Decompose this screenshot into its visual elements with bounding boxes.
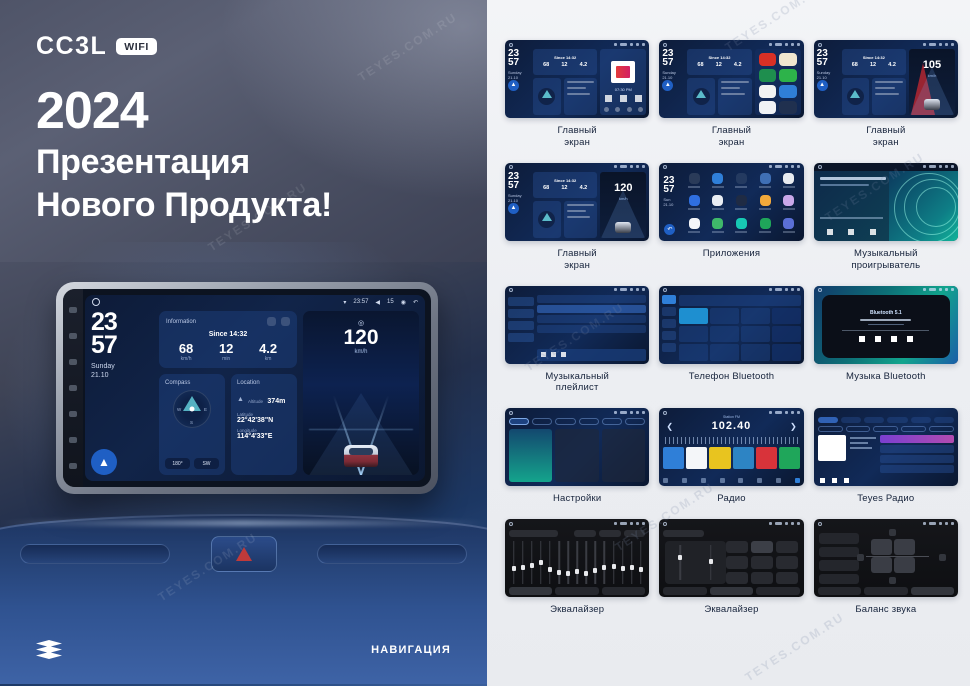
mini-information-card[interactable]: Since 14:32 68124.2 xyxy=(533,49,597,75)
wifi-icon: ▾ xyxy=(343,299,346,306)
navigate-icon[interactable]: ▲ xyxy=(817,80,828,91)
list-icon[interactable] xyxy=(627,107,632,112)
thumbnail-bluetooth-phone[interactable] xyxy=(659,286,803,364)
tab-display[interactable] xyxy=(555,418,575,425)
caption-line1: Эквалайзер xyxy=(704,604,758,615)
card-more[interactable] xyxy=(602,429,645,482)
next-icon[interactable] xyxy=(870,229,876,235)
bass-slider[interactable] xyxy=(676,545,684,579)
filter-favorites[interactable] xyxy=(901,426,926,432)
grid-item[interactable]: Музыкальный плейлист xyxy=(505,286,649,395)
mini-compass-card[interactable] xyxy=(842,78,870,115)
call-log-icon[interactable] xyxy=(662,331,676,340)
preset-pop[interactable] xyxy=(776,541,798,553)
band-slider[interactable] xyxy=(628,541,635,584)
grid-item[interactable]: 2357Sunday21.10 ▲ Since 14:32 68124.2 xyxy=(505,163,649,272)
sidebar-item-folders[interactable] xyxy=(508,333,534,342)
teyes-radio-tabs[interactable] xyxy=(818,417,954,423)
station-list[interactable] xyxy=(880,435,954,482)
logo-text: CC3L xyxy=(36,32,107,61)
radio-toolbar[interactable] xyxy=(663,478,799,483)
thumbnail-home-music[interactable]: 2357Sunday21.10 ▲ Since 14:32 68124.2 xyxy=(505,40,649,118)
play-store-icon[interactable] xyxy=(759,101,777,114)
load-button[interactable] xyxy=(624,530,646,537)
bluetooth-icon[interactable] xyxy=(662,307,676,316)
prev-icon[interactable] xyxy=(820,478,825,483)
band-slider[interactable] xyxy=(592,541,599,584)
backspace-icon[interactable] xyxy=(772,326,801,342)
photos-icon[interactable] xyxy=(759,85,777,98)
preset-custom[interactable] xyxy=(776,572,798,584)
stat-item: 12 min xyxy=(219,341,233,362)
list-item[interactable] xyxy=(537,305,646,313)
eq-icon[interactable] xyxy=(638,107,643,112)
player-controls[interactable] xyxy=(820,478,849,483)
grid-item[interactable]: 2357Sunday21.10 ▲ Since 14:32 68124.2 xyxy=(505,40,649,149)
player-controls[interactable] xyxy=(600,95,646,102)
compass-card[interactable]: Compass W E S 180° SW xyxy=(159,374,225,475)
playlist-list[interactable] xyxy=(537,295,646,361)
car-3d-model xyxy=(615,222,631,233)
tab-presets[interactable] xyxy=(864,587,907,595)
reset-button[interactable] xyxy=(574,530,596,537)
information-card-actions[interactable] xyxy=(267,317,290,326)
tab-radio[interactable] xyxy=(818,417,838,423)
search-icon[interactable] xyxy=(682,478,687,483)
back-icon[interactable]: ↶ xyxy=(413,299,418,306)
key-2[interactable] xyxy=(710,308,739,324)
tab-regions[interactable] xyxy=(911,417,931,423)
mini-clock: 2357Sun21.10 xyxy=(663,176,685,207)
car-body xyxy=(344,445,378,467)
progress-bar[interactable] xyxy=(842,330,929,331)
pause-icon[interactable] xyxy=(551,352,556,357)
preset-standard[interactable] xyxy=(726,541,748,553)
gallery-icon[interactable] xyxy=(779,85,797,98)
dialpad-icon[interactable] xyxy=(662,295,676,304)
location-altitude: ▲ Altitude 374m xyxy=(237,390,291,408)
contacts-icon xyxy=(712,195,723,206)
repeat-icon[interactable] xyxy=(615,107,620,112)
mini-statusbar xyxy=(505,163,649,171)
sidebar-item-tracks[interactable] xyxy=(508,297,534,306)
app-google[interactable] xyxy=(683,218,705,238)
settings-icon[interactable] xyxy=(779,101,797,114)
tab-driving[interactable] xyxy=(602,418,622,425)
side-key-back-icon[interactable] xyxy=(69,411,77,417)
band-slider[interactable] xyxy=(510,541,517,584)
tab-eq[interactable] xyxy=(663,587,706,595)
list-item[interactable] xyxy=(537,315,646,323)
key-7[interactable] xyxy=(679,344,708,360)
speaker-front-left[interactable] xyxy=(871,539,892,555)
stereo-icon[interactable] xyxy=(720,478,725,483)
app-camera[interactable] xyxy=(778,173,800,193)
tab-more[interactable] xyxy=(602,587,645,595)
browser-icon[interactable] xyxy=(779,53,797,66)
preset-dance[interactable] xyxy=(751,572,773,584)
sidebar-item-all[interactable] xyxy=(508,309,534,318)
tab-wlan[interactable] xyxy=(509,418,529,425)
preset-custom[interactable] xyxy=(819,574,859,585)
prev-icon[interactable] xyxy=(605,95,612,102)
radio-presets[interactable] xyxy=(663,447,799,469)
mini-music-widget[interactable]: 07:30 PM xyxy=(600,49,646,115)
band-slider[interactable] xyxy=(610,541,617,584)
settings-cards[interactable] xyxy=(509,429,645,482)
tab-eq[interactable] xyxy=(509,587,552,595)
app-bluetooth[interactable] xyxy=(707,173,729,193)
hazard-triangle-icon xyxy=(236,547,252,561)
compass-readouts: 180° SW xyxy=(165,458,219,469)
thumbnail-teyes-radio[interactable] xyxy=(814,408,958,486)
preset-buttons[interactable] xyxy=(726,541,798,584)
mini-location-card[interactable] xyxy=(718,78,752,115)
band-slider[interactable] xyxy=(519,541,526,584)
thumbnail-equalizer-presets[interactable] xyxy=(659,519,803,597)
app-music-player[interactable] xyxy=(731,218,753,238)
preset-2[interactable] xyxy=(686,447,707,469)
tab-general[interactable] xyxy=(579,418,599,425)
preset-6[interactable] xyxy=(779,447,800,469)
grid-item[interactable]: Bluetooth 5.1 Музыка Bluetooth xyxy=(814,286,958,395)
latitude-value: 22°42'38"N xyxy=(237,417,291,424)
preset-rock[interactable] xyxy=(726,556,748,568)
key-9[interactable] xyxy=(741,344,770,360)
band-slider[interactable] xyxy=(528,541,535,584)
prev-icon[interactable] xyxy=(541,352,546,357)
tab-eq[interactable] xyxy=(818,587,861,595)
band-slider[interactable] xyxy=(537,541,544,584)
head-unit-screen[interactable]: ▾ 23:57 ◀ 15 ◉ ↶ 23 57 Sunday xyxy=(85,295,425,481)
list-icon[interactable] xyxy=(701,478,706,483)
grid-item[interactable]: 2357Sun21.10 xyxy=(659,163,803,272)
grid-item[interactable]: Настройки xyxy=(505,408,649,505)
grid-item-caption: Музыкальный плейлист xyxy=(545,371,609,395)
location-latitude: Latitude 22°42'38"N xyxy=(237,412,291,424)
filter-rock[interactable] xyxy=(873,426,898,432)
mini-statusbar xyxy=(659,40,803,48)
progress-bar[interactable] xyxy=(820,217,884,219)
hero-footer-label: НАВИГАЦИЯ xyxy=(371,644,451,656)
tab-balance[interactable] xyxy=(911,587,954,595)
preset-name[interactable] xyxy=(663,530,704,537)
preset-vocal[interactable] xyxy=(776,556,798,568)
tab-genres[interactable] xyxy=(887,417,907,423)
hazard-light-button[interactable] xyxy=(211,536,277,572)
speaker-front-right[interactable] xyxy=(894,539,915,555)
app-wifi[interactable] xyxy=(683,173,705,193)
settings-icon[interactable] xyxy=(267,317,276,326)
grid-item[interactable]: Station FM ❮ 102.40 ❯ xyxy=(659,408,803,505)
teyes-radio-main xyxy=(818,435,954,482)
preset-jazz[interactable] xyxy=(751,556,773,568)
side-key-power-icon[interactable] xyxy=(69,359,77,365)
loc-icon[interactable] xyxy=(738,478,743,483)
app-maps[interactable] xyxy=(707,218,729,238)
navigate-icon[interactable]: ▲ xyxy=(91,449,117,475)
navigate-icon[interactable]: ▲ xyxy=(508,203,519,214)
mini-since: Since 14:32 xyxy=(846,55,902,60)
equalizer-icon xyxy=(736,195,747,206)
equalizer-tabs[interactable] xyxy=(509,587,645,595)
grid-item[interactable]: Музыкальный проигрыватель xyxy=(814,163,958,272)
side-key-volume-down-icon[interactable] xyxy=(69,437,77,443)
mini-statusbar xyxy=(505,519,649,527)
thumbnail-home-apps[interactable]: 2357Sunday21.10 ▲ Since 14:32 68124.2 xyxy=(659,40,803,118)
mini-compass-card[interactable] xyxy=(533,78,561,115)
key-6[interactable] xyxy=(741,326,770,342)
call-icon[interactable] xyxy=(772,344,801,360)
equalizer-header[interactable] xyxy=(509,529,645,537)
thumbnail-home-nav[interactable]: 2357Sunday21.10 ▲ Since 14:32 68124.2 xyxy=(505,163,649,241)
bass-treble-sliders[interactable] xyxy=(665,541,726,584)
pause-icon[interactable] xyxy=(620,95,627,102)
band-slider[interactable] xyxy=(546,541,553,584)
thumbnail-music-player[interactable] xyxy=(814,163,958,241)
grid-item[interactable]: Teyes Радио xyxy=(814,408,958,505)
arrow-left-icon[interactable] xyxy=(857,554,864,561)
hero-heading: 2024 Презентация Нового Продукта! xyxy=(36,84,332,226)
youtube-icon[interactable] xyxy=(759,53,777,66)
pause-icon[interactable] xyxy=(848,229,854,235)
grid-item[interactable]: Эквалайзер xyxy=(659,519,803,616)
next-icon[interactable] xyxy=(561,352,566,357)
list-item[interactable] xyxy=(880,445,954,453)
band-slider[interactable] xyxy=(619,541,626,584)
thumbnail-bluetooth-music[interactable]: Bluetooth 5.1 xyxy=(814,286,958,364)
preset-front[interactable] xyxy=(819,533,859,544)
mini-information-card[interactable]: Since 14:32 68124.2 xyxy=(533,172,597,198)
key-8[interactable] xyxy=(710,344,739,360)
road-illustration xyxy=(303,383,419,475)
key-4[interactable] xyxy=(679,326,708,342)
side-key-mute-icon[interactable] xyxy=(69,307,77,313)
mini-statusbar xyxy=(505,40,649,48)
app-shortcut-grid[interactable] xyxy=(758,52,798,112)
tab-sound[interactable] xyxy=(532,418,552,425)
settings-tabs[interactable] xyxy=(509,418,645,425)
caption-line2: проигрыватель xyxy=(851,260,920,271)
af-icon[interactable] xyxy=(757,478,762,483)
equalizer-tabs[interactable] xyxy=(818,587,954,595)
now-playing-bar[interactable] xyxy=(537,349,646,361)
arrow-right-icon[interactable] xyxy=(939,554,946,561)
shuffle-icon[interactable] xyxy=(604,107,609,112)
mini-compass-card[interactable] xyxy=(533,201,561,238)
band-slider[interactable] xyxy=(583,541,590,584)
player-controls[interactable] xyxy=(859,336,913,342)
band-slider[interactable] xyxy=(637,541,644,584)
frequency-dial[interactable] xyxy=(665,437,797,444)
tab-music[interactable] xyxy=(864,417,884,423)
list-item[interactable] xyxy=(880,455,954,463)
speaker-rear-right[interactable] xyxy=(894,557,915,573)
preset-3[interactable] xyxy=(709,447,730,469)
thumbnail-music-playlist[interactable] xyxy=(505,286,649,364)
save-button[interactable] xyxy=(599,530,621,537)
band-slider[interactable] xyxy=(601,541,608,584)
favourite-icon[interactable] xyxy=(772,308,801,324)
preset-5[interactable] xyxy=(756,447,777,469)
app-contacts[interactable] xyxy=(707,195,729,215)
speed-hud-panel[interactable]: ◎ 120 km/h xyxy=(303,311,419,475)
mini-information-card[interactable]: Since 14:32 68124.2 xyxy=(687,49,751,75)
play-pause-icon[interactable] xyxy=(875,336,881,342)
app-file-manager[interactable] xyxy=(754,195,776,215)
tab-system[interactable] xyxy=(625,418,645,425)
app-dsp-equalizer[interactable] xyxy=(731,195,753,215)
preset-bass[interactable] xyxy=(726,572,748,584)
tab-more[interactable] xyxy=(756,587,799,595)
tab-presets[interactable] xyxy=(710,587,753,595)
close-icon[interactable] xyxy=(934,417,954,423)
thumbnail-equalizer-bands[interactable] xyxy=(505,519,649,597)
back-icon[interactable]: ↶ xyxy=(664,224,675,235)
stop-icon[interactable] xyxy=(891,336,897,342)
side-key-volume-up-icon[interactable] xyxy=(69,463,77,469)
mini-app-shortcuts[interactable] xyxy=(755,49,801,115)
preset-1[interactable] xyxy=(663,447,684,469)
spotify-icon[interactable] xyxy=(779,69,797,82)
equalizer-header[interactable] xyxy=(663,529,799,537)
chrome-icon xyxy=(689,195,700,206)
speaker-rear-left[interactable] xyxy=(871,557,892,573)
sidebar-item-favourites[interactable] xyxy=(508,321,534,330)
card-wlan[interactable] xyxy=(509,429,552,482)
preset-4[interactable] xyxy=(733,447,754,469)
preset-name[interactable] xyxy=(509,530,558,537)
dialpad-keys[interactable] xyxy=(679,308,800,361)
grid-item[interactable]: 2357Sunday21.10 ▲ Since 14:32 68124.2 xyxy=(814,40,958,149)
app-gallery[interactable] xyxy=(778,195,800,215)
balance-presets[interactable] xyxy=(819,533,859,584)
thumbnail-home-road[interactable]: 2357Sunday21.10 ▲ Since 14:32 68124.2 xyxy=(814,40,958,118)
thumbnail-sound-balance[interactable] xyxy=(814,519,958,597)
tab-podcast[interactable] xyxy=(841,417,861,423)
information-card[interactable]: Information Since 14:32 xyxy=(159,311,297,368)
thumbnail-settings[interactable] xyxy=(505,408,649,486)
mini-information-card[interactable]: Since 14:32 68124.2 xyxy=(842,49,906,75)
phone-sidebar[interactable] xyxy=(662,295,676,361)
grid-item[interactable]: Баланс звука xyxy=(814,519,958,616)
key-3[interactable] xyxy=(741,308,770,324)
arrow-down-icon[interactable] xyxy=(889,577,896,584)
list-item[interactable] xyxy=(537,295,646,303)
band-icon[interactable] xyxy=(663,478,668,483)
next-icon[interactable] xyxy=(907,336,913,342)
radio-icon xyxy=(783,218,794,229)
mini-location-card[interactable] xyxy=(872,78,906,115)
next-icon[interactable] xyxy=(844,478,849,483)
key-1[interactable] xyxy=(679,308,708,324)
side-key-menu-icon[interactable] xyxy=(69,333,77,339)
preset-classic[interactable] xyxy=(751,541,773,553)
navigate-icon[interactable]: ▲ xyxy=(508,80,519,91)
treble-slider[interactable] xyxy=(707,545,715,579)
key-5[interactable] xyxy=(710,326,739,342)
next-station-icon[interactable]: ❯ xyxy=(790,422,797,431)
location-card[interactable]: Location ▲ Altitude 374m xyxy=(231,374,297,475)
refresh-icon[interactable] xyxy=(281,317,290,326)
settings-icon[interactable] xyxy=(662,343,676,352)
preset-rear[interactable] xyxy=(819,547,859,558)
app-play-store[interactable] xyxy=(754,218,776,238)
band-slider[interactable] xyxy=(574,541,581,584)
stop-icon[interactable] xyxy=(832,478,837,483)
list-item[interactable] xyxy=(880,435,954,443)
mini-compass-card[interactable] xyxy=(687,78,715,115)
search-icon[interactable] xyxy=(662,319,676,328)
head-unit-side-keys[interactable] xyxy=(63,289,83,487)
head-unit-home-body: 23 57 Sunday 21.10 ▲ Information xyxy=(91,311,419,475)
list-item[interactable] xyxy=(880,465,954,473)
grid-item[interactable]: Телефон Bluetooth xyxy=(659,286,803,395)
mini-since: Since 14:32 xyxy=(691,55,747,60)
thumbnail-apps[interactable]: 2357Sun21.10 xyxy=(659,163,803,241)
gps-icon: ◉ xyxy=(401,299,406,306)
compass-dial-icon: W E S xyxy=(173,390,211,428)
grid-item[interactable]: 2357Sunday21.10 ▲ Since 14:32 68124.2 xyxy=(659,40,803,149)
player-extra-controls[interactable] xyxy=(600,107,646,112)
filter-pop[interactable] xyxy=(846,426,871,432)
play-store-icon xyxy=(760,218,771,229)
next-icon[interactable] xyxy=(635,95,642,102)
thumbnail-radio[interactable]: Station FM ❮ 102.40 ❯ xyxy=(659,408,803,486)
app-radio[interactable] xyxy=(778,218,800,238)
tab-balance[interactable] xyxy=(555,587,598,595)
mini-speed-hud[interactable]: 105 km/h xyxy=(909,49,955,115)
layers-icon xyxy=(36,640,62,660)
mini-stats: 68124.2 xyxy=(537,62,593,68)
mini-location-card[interactable] xyxy=(564,201,598,238)
caption-line1: Музыкальный xyxy=(854,248,918,259)
arrow-up-icon[interactable] xyxy=(889,529,896,536)
filter-recent[interactable] xyxy=(929,426,954,432)
prev-icon[interactable] xyxy=(859,336,865,342)
speaker-balance-pad[interactable] xyxy=(871,539,914,573)
side-key-home-icon[interactable] xyxy=(69,385,77,391)
prev-icon[interactable] xyxy=(827,229,833,235)
app-chrome[interactable] xyxy=(683,195,705,215)
playlist-sidebar[interactable] xyxy=(508,295,534,361)
mini-home-body: 2357Sunday21.10 ▲ Since 14:32 68124.2 xyxy=(817,49,955,115)
maps-icon[interactable] xyxy=(759,69,777,82)
mini-location-card[interactable] xyxy=(564,78,598,115)
list-item[interactable] xyxy=(537,325,646,333)
preset-all[interactable] xyxy=(819,560,859,571)
application-grid[interactable] xyxy=(683,173,799,238)
filter-all[interactable] xyxy=(818,426,843,432)
player-controls[interactable] xyxy=(820,229,884,235)
caption-line2: экран xyxy=(564,137,590,148)
teyes-radio-filters[interactable] xyxy=(818,426,954,432)
mini-speed-hud[interactable]: 120 km/h xyxy=(600,172,646,238)
navigate-icon[interactable]: ▲ xyxy=(662,80,673,91)
band-slider[interactable] xyxy=(555,541,562,584)
grid-item[interactable]: Эквалайзер xyxy=(505,519,649,616)
clock-minutes: 57 xyxy=(91,334,153,357)
power-icon[interactable] xyxy=(795,478,800,483)
settings-icon[interactable] xyxy=(776,478,781,483)
app-bluetooth-music[interactable] xyxy=(731,173,753,193)
station-metadata xyxy=(850,435,876,482)
band-slider[interactable] xyxy=(565,541,572,584)
app-calculator[interactable] xyxy=(754,173,776,193)
equalizer-tabs[interactable] xyxy=(663,587,799,595)
equalizer-band-sliders[interactable] xyxy=(510,541,644,584)
card-carplay[interactable] xyxy=(555,429,598,482)
